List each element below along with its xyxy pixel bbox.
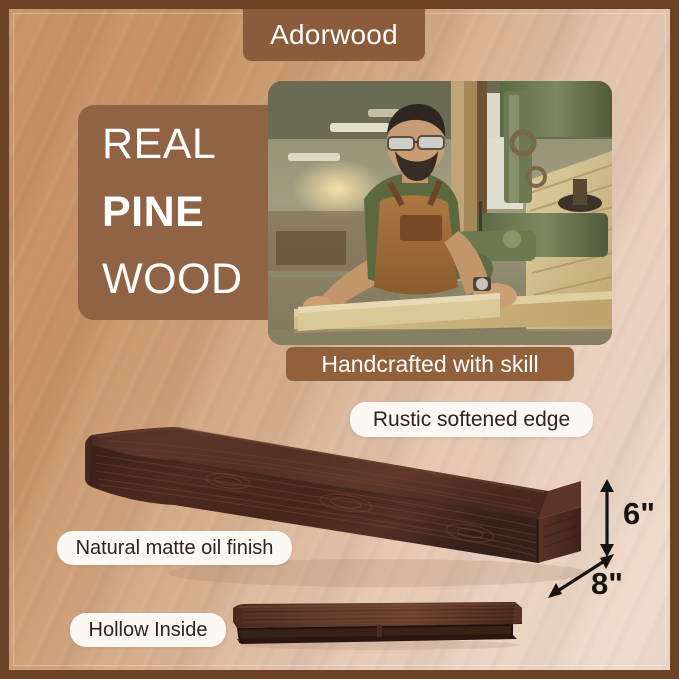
headline-line-2: PINE: [102, 179, 290, 247]
headline-panel: REAL PINE WOOD: [78, 105, 290, 320]
dimension-label-depth: 8": [591, 566, 623, 602]
headline-line-3: WOOD: [102, 246, 290, 314]
product-beam-main: [78, 415, 598, 595]
headline-line-1: REAL: [102, 111, 290, 179]
dimension-label-height: 6": [623, 496, 655, 532]
workshop-photo: [268, 81, 612, 345]
label-hollow-inside-text: Hollow Inside: [89, 619, 208, 642]
product-beam-hollow-illustration: [225, 598, 530, 650]
label-hollow-inside: Hollow Inside: [70, 613, 226, 647]
brand-name: Adorwood: [270, 19, 398, 51]
dimension-arrow-height-icon: [594, 478, 620, 558]
product-beam-main-illustration: [78, 415, 598, 595]
label-handcrafted-text: Handcrafted with skill: [321, 351, 538, 378]
product-beam-hollow: [225, 598, 530, 650]
label-rustic-edge: Rustic softened edge: [350, 402, 593, 437]
label-matte-finish-text: Natural matte oil finish: [76, 537, 274, 560]
label-rustic-edge-text: Rustic softened edge: [373, 408, 570, 432]
workshop-photo-illustration: [268, 81, 612, 345]
dimension-arrow-height: [594, 478, 620, 558]
label-matte-finish: Natural matte oil finish: [57, 531, 292, 565]
product-infographic: Adorwood REAL PINE WOOD: [0, 0, 679, 679]
brand-chip: Adorwood: [243, 9, 425, 61]
label-handcrafted: Handcrafted with skill: [286, 347, 574, 381]
